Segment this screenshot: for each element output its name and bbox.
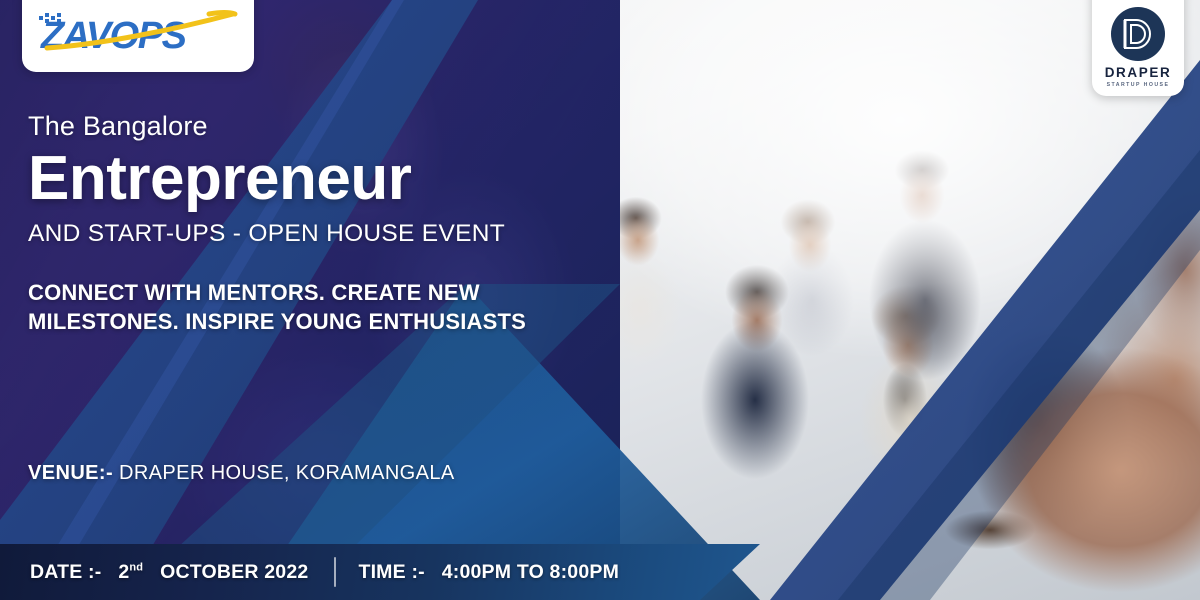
date-rest: OCTOBER 2022 (160, 561, 308, 583)
draper-monogram-icon (1110, 6, 1166, 62)
footer-divider (334, 557, 336, 587)
page-title: Entrepreneur (28, 146, 588, 212)
venue-value: DRAPER HOUSE, KORAMANGALA (119, 462, 455, 484)
date-info: DATE :- 2nd OCTOBER 2022 (30, 561, 308, 584)
svg-text:ZAVOPS: ZAVOPS (40, 15, 187, 56)
draper-logo-subtitle: STARTUP HOUSE (1107, 83, 1170, 88)
draper-logo-name: DRAPER (1105, 66, 1172, 80)
event-banner: ZAVOPS DRAPER STARTUP HOUSE The Bangalor… (0, 0, 1200, 600)
venue-label: VENUE:- (28, 462, 113, 484)
kicker-text: The Bangalore (28, 112, 588, 142)
tagline-text: CONNECT WITH MENTORS. CREATE NEW MILESTO… (28, 279, 588, 335)
subhead-text: AND START-UPS - OPEN HOUSE EVENT (28, 221, 588, 248)
zavops-logo-card[interactable]: ZAVOPS (22, 0, 254, 72)
venue-block: VENUE:- DRAPER HOUSE, KORAMANGALA (28, 460, 488, 486)
date-day: 2 (118, 561, 129, 583)
headline-block: The Bangalore Entrepreneur AND START-UPS… (28, 112, 588, 336)
zavops-logo: ZAVOPS (33, 8, 243, 56)
date-label: DATE :- (30, 561, 101, 583)
time-info: TIME :- 4:00PM TO 8:00PM (358, 561, 619, 584)
footer-content: DATE :- 2nd OCTOBER 2022 TIME :- 4:00PM … (0, 544, 760, 600)
time-value: 4:00PM TO 8:00PM (442, 561, 619, 583)
time-label: TIME :- (358, 561, 424, 583)
draper-logo-card[interactable]: DRAPER STARTUP HOUSE (1092, 0, 1184, 96)
date-ordinal: nd (129, 561, 143, 573)
